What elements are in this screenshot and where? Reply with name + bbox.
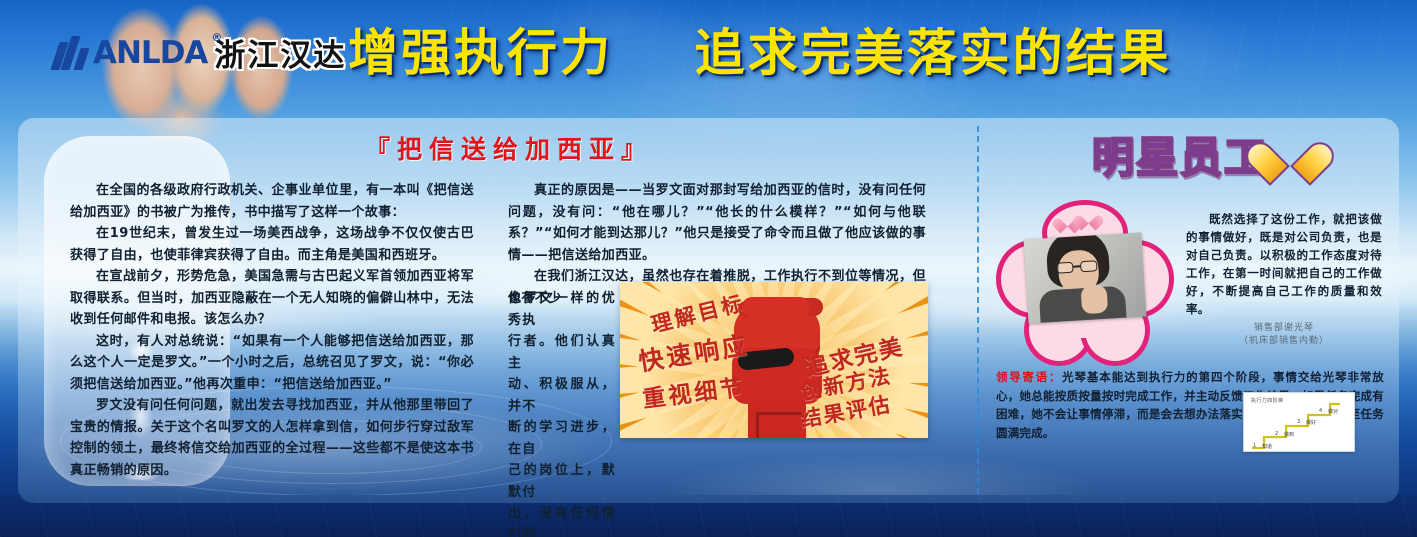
logo-chinese-label: 浙江汉达 (214, 30, 346, 75)
star-employee-title-text: 明星员工 (1092, 133, 1268, 182)
poster-header: ANLDA ® 浙江汉达 增强执行力 追求完美落实的结果 (0, 0, 1417, 118)
quote-text: 既然选择了这份工作，就把该做的事情做好，既是对公司负责，也是对自己负责。以积极的… (1186, 210, 1382, 318)
article-heading: 『把信送给加西亚』 (365, 130, 653, 166)
paragraph-line: 行者。他们认真主 (508, 331, 616, 374)
chart-xtick: 4 (1319, 408, 1322, 414)
chart-step-label: 做对 (1328, 408, 1338, 415)
paragraph: 在全国的各级政府行政机关、企事业单位里，有一本叫《把信送给加西亚》的书被广为推传… (70, 180, 474, 223)
signature-name: 销售部谢光琴 (1186, 322, 1382, 335)
page-title: 增强执行力 追求完美落实的结果 (348, 28, 1208, 78)
registered-mark-icon: ® (211, 31, 221, 44)
chart-xtick: 2 (1275, 431, 1278, 437)
paragraph: 在宣战前夕，形势危急，美国急需与古巴起义军首领加西亚将军取得联系。但当时，加西亚… (70, 266, 474, 331)
chart-step-label: 知道 (1262, 443, 1272, 450)
chart-step-label: 做到 (1284, 431, 1294, 438)
manlda-chevron-icon (55, 36, 86, 70)
company-logo: ANLDA ® 浙江汉达 (55, 30, 346, 75)
quote-signature: 销售部谢光琴 （机床部销售内勤） (1186, 322, 1382, 348)
poster-canvas: ANLDA ® 浙江汉达 增强执行力 追求完美落实的结果 『把信送给加西亚』 在… (0, 0, 1417, 537)
heading-bracket-open: 『 (365, 135, 397, 164)
paragraph-line: 出，没有任何借口的 (508, 503, 616, 537)
avatar (1024, 232, 1147, 323)
photo-frame-flower (996, 200, 1172, 370)
execution-stairs-chart: 执行力四阶梯 1 2 3 4 知道 做到 做好 做对 (1243, 392, 1355, 452)
paragraph-line: 断的学习进步，在自 (508, 417, 616, 460)
leader-comment-label: 领导寄语： (996, 370, 1062, 384)
heart-icon (1264, 130, 1322, 182)
paragraph-line: 己的岗位上，默默付 (508, 460, 616, 503)
chart-xtick: 1 (1253, 443, 1256, 449)
star-employee-title: 明星员工 (1092, 124, 1332, 186)
paragraph-line: 动、积极服从，并不 (508, 374, 616, 417)
signature-dept: （机床部销售内勤） (1186, 335, 1382, 348)
article-column-1: 在全国的各级政府行政机关、企事业单位里，有一本叫《把信送给加西亚》的书被广为推传… (70, 180, 474, 481)
heading-bracket-close: 』 (621, 135, 653, 164)
chart-step-label: 做好 (1306, 419, 1316, 426)
paragraph-line: 像罗文一样的优秀执 (508, 288, 616, 331)
article-column-2-wrap: 像罗文一样的优秀执 行者。他们认真主 动、积极服从，并不 断的学习进步，在自 己… (508, 288, 616, 537)
heart-icon (1080, 211, 1100, 229)
chart-xtick: 3 (1297, 419, 1300, 425)
paragraph: 罗文没有问任何问题，就出发去寻找加西亚，并从他那里带回了宝贵的情报。关于这个名叫… (70, 395, 474, 481)
panel-divider (977, 126, 979, 494)
heading-text: 把信送给加西亚 (397, 135, 621, 164)
employee-quote: 既然选择了这份工作，就把该做的事情做好，既是对公司负责，也是对自己负责。以积极的… (1186, 210, 1382, 318)
logo-latin-text: ANLDA ® (93, 35, 207, 71)
paragraph: 真正的原因是——当罗文面对那封写给加西亚的信时，没有问任何问题，没有问：“他在哪… (508, 180, 926, 266)
logo-latin-label: ANLDA (93, 35, 207, 71)
paragraph: 这时，有人对总统说：“如果有一个人能够把信送给加西亚，那么这个人一定是罗文。”一… (70, 331, 474, 396)
paragraph: 在19世纪末，曾发生过一场美西战争，这场战争不仅仅使古巴获得了自由，也使菲律宾获… (70, 223, 474, 266)
motivation-poster: 理解目标 快速响应 重视细节 追求完美 创新方法 结果评估 (620, 282, 928, 438)
